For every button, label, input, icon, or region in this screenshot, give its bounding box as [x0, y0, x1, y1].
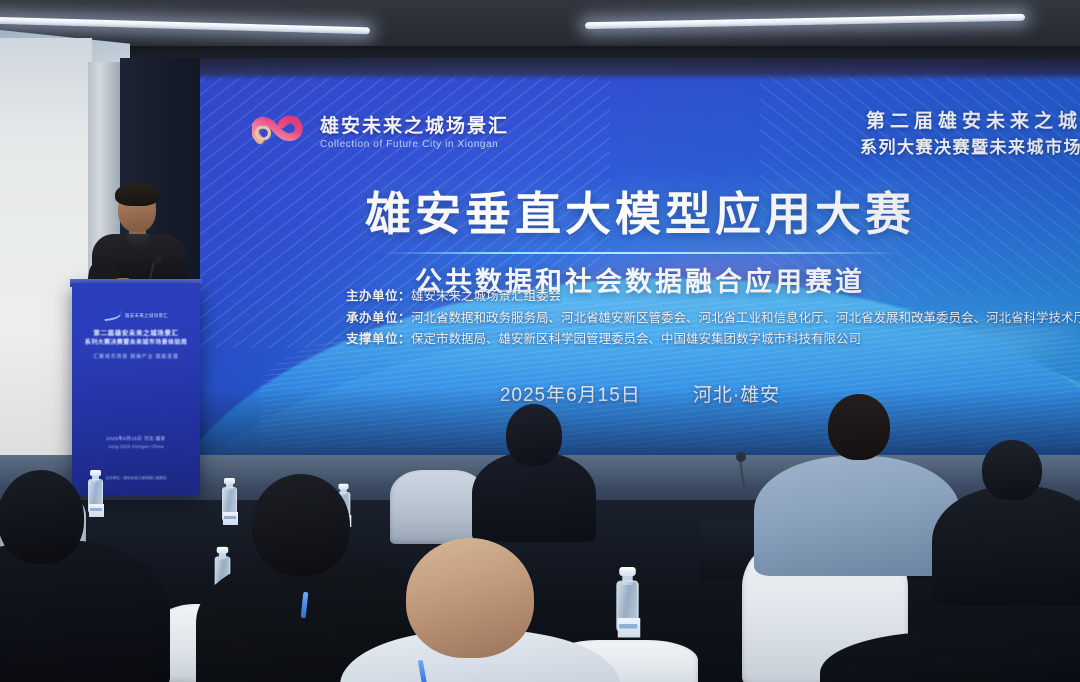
organizer-label: 支撑单位：	[346, 332, 411, 346]
organizer-row: 支撑单位：保定市数据局、雄安新区科学园管理委员会、中国雄安集团数字城市科技有限公…	[346, 329, 1080, 351]
logo-title-cn: 雄安未来之城场景汇	[320, 111, 509, 138]
bottle-label	[618, 618, 641, 638]
audience-head	[0, 470, 84, 564]
podium-line-2: 系列大赛决赛暨未来城市场景体验周	[80, 339, 192, 348]
podium-logo: 雄安未来之城场景汇	[80, 311, 192, 320]
podium-date-en: Jung.2025 Xiongan·China	[72, 444, 200, 449]
audience-head	[252, 474, 350, 576]
screen-top-shadow	[200, 58, 1080, 80]
audience-head	[982, 440, 1042, 500]
podium-swoosh-icon	[103, 310, 122, 321]
podium-logo-text: 雄安未来之城场景汇	[125, 313, 168, 319]
audience-member	[820, 612, 1060, 682]
audience-shoulders	[754, 456, 960, 576]
bottle-body	[616, 581, 639, 634]
title-block: 雄安垂直大模型应用大赛 公共数据和社会数据融合应用赛道	[200, 178, 1080, 299]
bottle-label	[223, 512, 238, 525]
led-screen: 雄安未来之城场景汇 Collection of Future City in X…	[200, 58, 1080, 458]
organizer-label: 承办单位：	[346, 311, 411, 325]
series-header-line2: 系列大赛决赛暨未来城市场	[860, 136, 1080, 161]
audience-member	[942, 440, 1080, 580]
podium-mic-head	[154, 256, 162, 264]
audience-member	[772, 402, 942, 552]
event-logo: 雄安未来之城场景汇 Collection of Future City in X…	[252, 110, 509, 150]
podium-line-1: 第二届雄安未来之城场景汇	[80, 329, 192, 339]
speaker-hair	[115, 183, 159, 206]
ribbon-infinity-logo-icon	[252, 110, 310, 150]
table-mic-head	[736, 452, 746, 462]
audience-shoulders	[820, 632, 1080, 682]
podium-line-3: 汇聚城市场景 链接产业 赋能发展	[80, 353, 192, 360]
podium-date-block: 2025年6月15日 河北·雄安 Jung.2025 Xiongan·China	[72, 436, 200, 449]
logo-title-en: Collection of Future City in Xiongan	[320, 139, 509, 150]
organizer-value: 河北省数据和政务服务局、河北省雄安新区管委会、河北省工业和信息化厅、河北省发展和…	[411, 311, 1080, 325]
audience-head	[828, 394, 890, 460]
audience-member	[0, 470, 130, 682]
organizer-value: 雄安未来之城场景汇组委会	[411, 289, 561, 303]
audience-member	[380, 538, 570, 682]
ceiling-light-left	[0, 17, 370, 35]
ceiling-light-right	[585, 14, 1025, 29]
organizer-label: 主办单位：	[346, 289, 411, 303]
organizer-row: 主办单位：雄安未来之城场景汇组委会	[346, 286, 1080, 308]
page-title: 雄安垂直大模型应用大赛	[200, 178, 1080, 244]
water-bottle	[616, 567, 639, 633]
audience-head	[406, 538, 534, 658]
title-divider	[380, 252, 900, 254]
audience-shoulders	[932, 486, 1080, 606]
conference-photo-scene: 雄安未来之城场景汇 Collection of Future City in X…	[0, 0, 1080, 682]
bottle-body	[222, 487, 237, 522]
organizer-value: 保定市数据局、雄安新区科学园管理委员会、中国雄安集团数字城市科技有限公司	[411, 332, 861, 346]
podium-date-cn: 2025年6月15日 河北·雄安	[72, 436, 200, 442]
organizer-list: 主办单位：雄安未来之城场景汇组委会 承办单位：河北省数据和政务服务局、河北省雄安…	[346, 286, 1080, 351]
audience-member	[478, 400, 588, 520]
speaker-figure	[82, 186, 194, 294]
organizer-row: 承办单位：河北省数据和政务服务局、河北省雄安新区管委会、河北省工业和信息化厅、河…	[346, 308, 1080, 330]
audience-head	[506, 404, 562, 466]
water-bottle	[222, 478, 237, 522]
series-header-line1: 第二届雄安未来之城	[860, 108, 1080, 136]
podium: 雄安未来之城场景汇 第二届雄安未来之城场景汇 系列大赛决赛暨未来城市场景体验周 …	[72, 283, 200, 495]
series-header: 第二届雄安未来之城 系列大赛决赛暨未来城市场	[860, 108, 1080, 160]
